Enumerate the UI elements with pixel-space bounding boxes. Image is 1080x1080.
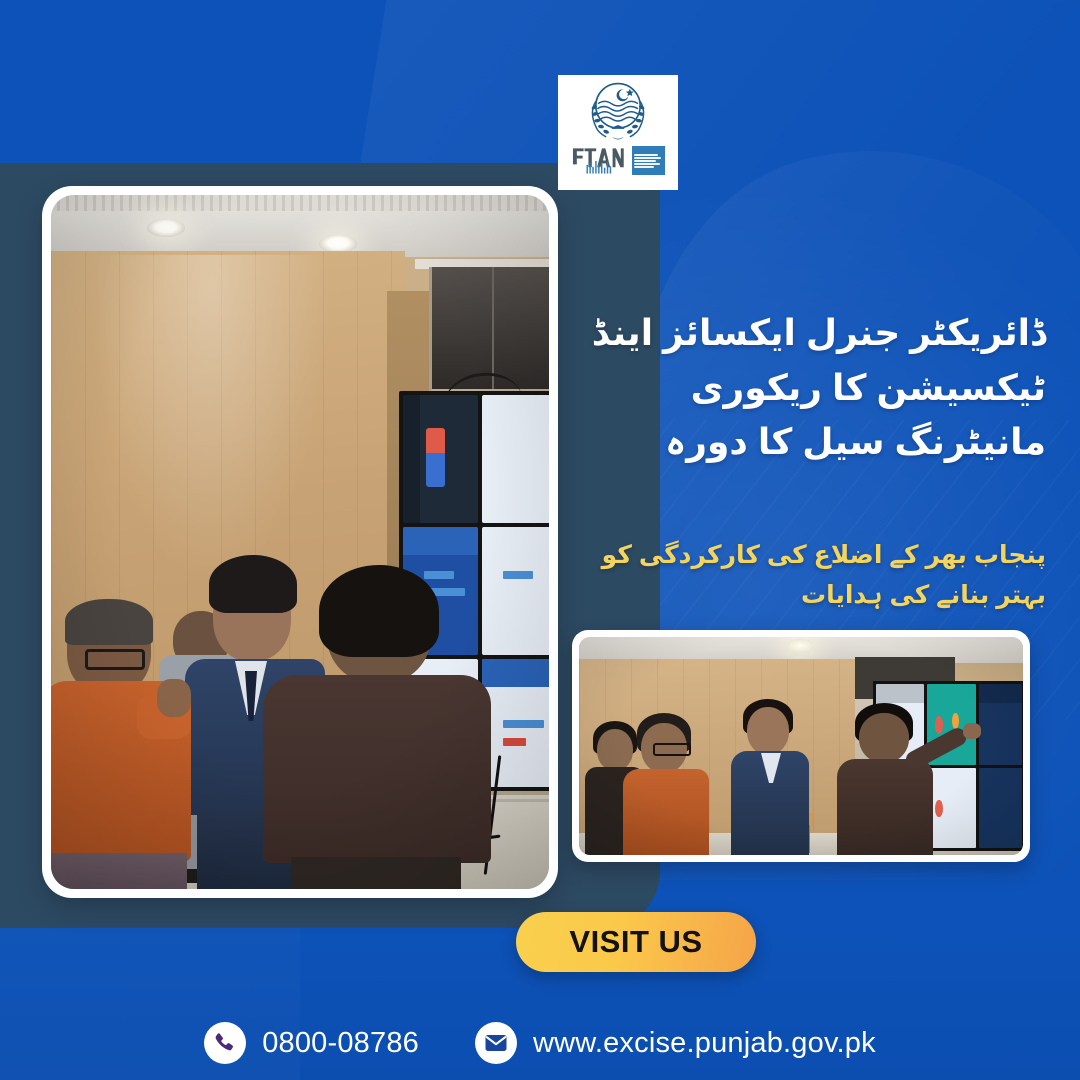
- visit-us-button[interactable]: VISIT US: [516, 912, 756, 972]
- footer-contact-bar: 0800-08786 www.excise.punjab.gov.pk: [0, 1012, 1080, 1074]
- punjab-crest-icon: [581, 79, 655, 143]
- inset-vignette: [579, 637, 1023, 855]
- envelope-icon: [484, 1033, 508, 1053]
- page-title: ڈائریکٹر جنرل ایکسائز اینڈ ٹیکسیشن کا ری…: [566, 306, 1046, 470]
- phone-icon: [213, 1031, 237, 1055]
- website-url: www.excise.punjab.gov.pk: [533, 1027, 876, 1060]
- phone-number: 0800-08786: [262, 1027, 419, 1060]
- etanc-logo-card: [558, 75, 678, 190]
- hero-photo: [51, 195, 549, 889]
- phone-icon-circle: [204, 1022, 246, 1064]
- inset-photo: [579, 637, 1023, 855]
- envelope-icon-circle: [475, 1022, 517, 1064]
- etanc-wordmark-icon: [572, 145, 630, 175]
- hero-vignette: [51, 195, 549, 889]
- footer-website[interactable]: www.excise.punjab.gov.pk: [475, 1022, 876, 1064]
- etanc-department-badge: [632, 146, 665, 175]
- inset-photo-frame: [572, 630, 1030, 862]
- poster-canvas: ڈائریکٹر جنرل ایکسائز اینڈ ٹیکسیشن کا ری…: [0, 0, 1080, 1080]
- hero-photo-frame: [42, 186, 558, 898]
- page-subtitle: پنجاب بھر کے اضلاع کی کارکردگی کو بہتر ب…: [556, 536, 1046, 615]
- etanc-wordmark-row: [572, 145, 665, 175]
- footer-phone[interactable]: 0800-08786: [204, 1022, 419, 1064]
